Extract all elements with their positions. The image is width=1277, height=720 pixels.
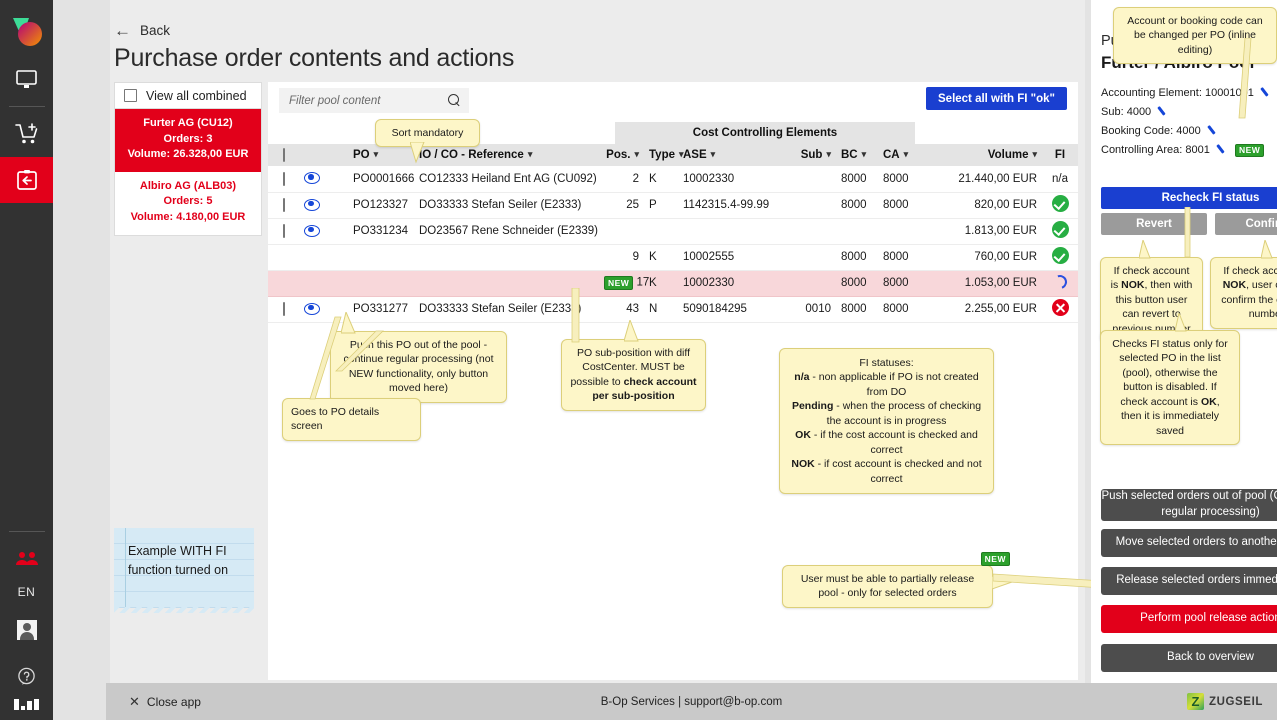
pool-accounting-fields: Accounting Element: 10001001 Sub: 4000 B…: [1101, 84, 1273, 161]
col-po[interactable]: PO▾: [348, 144, 414, 166]
cell-bc: 8000: [836, 244, 878, 270]
col-pos[interactable]: Pos.▾: [599, 144, 644, 166]
field-label: Sub:: [1101, 106, 1124, 118]
callout-sort-mandatory: Sort mandatory: [375, 119, 480, 147]
field-label: Accounting Element:: [1101, 87, 1202, 99]
cell-bc: 8000: [836, 270, 878, 296]
cell-volume: 2.255,00 EUR: [922, 296, 1042, 322]
callout-text-a: If check account is: [1223, 265, 1277, 277]
zugseil-mark-icon: Z: [1187, 693, 1204, 710]
cell-po: PO123327: [348, 192, 414, 218]
col-po-label: PO: [353, 149, 370, 161]
cell-eye[interactable]: [299, 270, 321, 296]
col-volume[interactable]: Volume▾: [922, 144, 1042, 166]
table-row[interactable]: PO331234DO23567 Rene Schneider (E2339)1.…: [268, 218, 1078, 244]
cell-fi: [1042, 218, 1078, 244]
language-label[interactable]: EN: [18, 582, 36, 607]
col-bc[interactable]: BC▾: [836, 144, 878, 166]
col-type-label: Type: [649, 149, 675, 161]
cell-volume: 820,00 EUR: [922, 192, 1042, 218]
field-booking-code: Booking Code: 4000: [1101, 122, 1273, 141]
callout-confirm-note: If check account is NOK, user can still …: [1210, 257, 1277, 329]
pool-orders: Orders: 3: [119, 132, 257, 148]
recheck-fi-status-button[interactable]: Recheck FI status: [1101, 187, 1277, 209]
new-badge: NEW: [604, 276, 633, 290]
col-ca[interactable]: CA▾: [878, 144, 922, 166]
cell-sub: [784, 270, 836, 296]
cell-type: [644, 218, 678, 244]
push-out-of-pool-icon[interactable]: [327, 171, 342, 184]
fi-status-key: n/a: [794, 371, 809, 383]
cell-type: K: [644, 270, 678, 296]
cell-type: N: [644, 296, 678, 322]
callout-text: Account or booking code can be changed p…: [1127, 15, 1262, 56]
action-label: Move selected orders to another pool: [1116, 536, 1277, 548]
cell-pos: 2: [599, 166, 644, 192]
zugseil-logo-text: ZUGSEIL: [1209, 696, 1263, 708]
col-reference-label: IO / CO - Reference: [419, 149, 524, 161]
fi-status-desc: - non applicable if PO is not created fr…: [809, 371, 978, 397]
push-orders-out-button[interactable]: Push selected orders out of pool (Contin…: [1101, 489, 1277, 521]
cell-push[interactable]: [321, 218, 348, 244]
cell-fi: [1042, 244, 1078, 270]
pool-volume: Volume: 4.180,00 EUR: [119, 210, 257, 226]
callout-tail: [1139, 240, 1157, 259]
row-checkbox[interactable]: [283, 172, 285, 186]
cell-po: [348, 244, 414, 270]
cell-push[interactable]: [321, 270, 348, 296]
cell-ca: 8000: [878, 166, 922, 192]
cell-ca: 8000: [878, 192, 922, 218]
cell-ca: 8000: [878, 296, 922, 322]
callout-push-po: Push this PO out of the pool - continue …: [330, 331, 507, 403]
fi-status-ok-icon: [1052, 221, 1069, 238]
cell-ase: 10002555: [678, 244, 784, 270]
cell-sub: [784, 192, 836, 218]
callout-partial-release: User must be able to partially release p…: [782, 565, 993, 608]
cell-volume: 1.053,00 EUR: [922, 270, 1042, 296]
fi-statuses-title: FI statuses:: [789, 356, 984, 370]
callout-tail: [1261, 240, 1277, 259]
callout-text: Sort mandatory: [392, 127, 464, 139]
cell-po: [348, 270, 414, 296]
cell-sub: [784, 244, 836, 270]
people-icon[interactable]: [0, 536, 53, 582]
fi-status-ok-icon: [1052, 247, 1069, 264]
select-all-header[interactable]: [268, 144, 299, 166]
field-label: Controlling Area:: [1101, 144, 1182, 156]
pool-name: Albiro AG (ALB03): [119, 179, 257, 195]
monitor-icon[interactable]: [0, 56, 53, 102]
callout-tail: [1175, 313, 1193, 332]
cell-fi: [1042, 192, 1078, 218]
cell-sub: [784, 218, 836, 244]
cell-type: K: [644, 244, 678, 270]
back-label: Back: [140, 23, 170, 38]
cell-volume: 1.813,00 EUR: [922, 218, 1042, 244]
fi-status-ok-icon: [1052, 195, 1069, 212]
brand-logo-icon: [5, 12, 49, 56]
table-toolbar: Select all with FI "ok": [268, 82, 1078, 119]
app-stage: ← Back Purchase order contents and actio…: [53, 0, 1277, 720]
cell-eye[interactable]: [299, 244, 321, 270]
col-volume-label: Volume: [988, 149, 1029, 161]
pool-name: Furter AG (CU12): [119, 116, 257, 132]
col-ca-label: CA: [883, 149, 900, 161]
callout-sub-position: PO sub-position with diff CostCenter. MU…: [561, 339, 706, 411]
cell-select[interactable]: [268, 192, 299, 218]
cell-select[interactable]: [268, 296, 299, 322]
cell-pos: [599, 218, 644, 244]
field-sub: Sub: 4000: [1101, 103, 1273, 122]
callout-po-details: Goes to PO details screen: [282, 398, 421, 441]
edit-pencil-icon[interactable]: [1159, 105, 1170, 116]
callout-text: Push this PO out of the pool - continue …: [343, 339, 493, 394]
cell-eye[interactable]: [299, 218, 321, 244]
pool-card-furter[interactable]: Furter AG (CU12) Orders: 3 Volume: 26.32…: [115, 109, 261, 172]
back-button[interactable]: ← Back: [114, 22, 170, 39]
cost-controlling-elements-header: Cost Controlling Elements: [615, 122, 915, 144]
cell-ca: [878, 218, 922, 244]
cell-reference: DO23567 Rene Schneider (E2339): [414, 218, 599, 244]
bottom-bar: ✕ Close app B-Op Services | support@b-op…: [106, 683, 1277, 720]
col-sub-label: Sub: [801, 149, 823, 161]
field-value: 4000: [1127, 106, 1151, 118]
pool-card-albiro[interactable]: Albiro AG (ALB03) Orders: 5 Volume: 4.18…: [115, 172, 261, 235]
cell-select[interactable]: [268, 166, 299, 192]
cell-fi: [1042, 296, 1078, 322]
field-label: Booking Code:: [1101, 125, 1173, 137]
col-type[interactable]: Type▾: [644, 144, 678, 166]
cell-type: K: [644, 166, 678, 192]
purchase-order-table: PO▾ IO / CO - Reference▾ Pos.▾ Type▾ ASE…: [268, 144, 1078, 323]
zugseil-logo: Z ZUGSEIL: [1187, 693, 1263, 710]
col-ase[interactable]: ASE▾: [678, 144, 784, 166]
avatar[interactable]: [0, 607, 53, 653]
action-label: Push selected orders out of pool (Contin…: [1102, 490, 1277, 518]
cell-select[interactable]: [268, 270, 299, 296]
edit-pencil-icon[interactable]: [1209, 124, 1220, 135]
filter-search-box[interactable]: [279, 88, 469, 113]
fi-status-key: OK: [795, 429, 811, 441]
callout-text-b: OK: [1201, 396, 1217, 408]
callout-text: User must be able to partially release p…: [801, 573, 974, 599]
move-orders-button[interactable]: Move selected orders to another pool: [1101, 529, 1277, 557]
callout-tail: [341, 312, 363, 334]
search-icon[interactable]: [448, 94, 461, 107]
select-all-checkbox[interactable]: [283, 148, 285, 162]
view-all-combined-toggle[interactable]: View all combined: [114, 82, 262, 109]
action-label: Back to overview: [1167, 651, 1254, 663]
support-text: B-Op Services | support@b-op.com: [106, 696, 1277, 708]
fi-status-key: Pending: [792, 400, 833, 412]
pool-volume: Volume: 26.328,00 EUR: [119, 147, 257, 163]
cell-sub: [784, 166, 836, 192]
view-all-checkbox[interactable]: [124, 89, 137, 102]
note-torn-edge: [114, 607, 254, 613]
field-controlling-area: Controlling Area: 8001 NEW: [1101, 141, 1273, 160]
cell-ca: 8000: [878, 270, 922, 296]
pool-orders: Orders: 5: [119, 194, 257, 210]
cell-po: PO331234: [348, 218, 414, 244]
confirm-button[interactable]: Confirm: [1215, 213, 1277, 235]
callout-text-b: NOK: [1121, 279, 1144, 291]
cell-ase: 10002330: [678, 270, 784, 296]
callout-tail: [992, 576, 1014, 594]
table-row[interactable]: NEW 17K10002330800080001.053,00 EUR: [268, 270, 1078, 296]
cell-push[interactable]: [321, 192, 348, 218]
cell-select[interactable]: [268, 218, 299, 244]
push-out-of-pool-icon[interactable]: [327, 223, 342, 236]
field-accounting-element: Accounting Element: 10001001: [1101, 84, 1273, 103]
cell-pos: 9: [599, 244, 644, 270]
callout-text: Goes to PO details screen: [291, 406, 379, 432]
callout-tail: [624, 320, 646, 342]
view-all-label: View all combined: [146, 89, 247, 103]
view-details-icon[interactable]: [304, 223, 318, 237]
revert-button[interactable]: Revert: [1101, 213, 1207, 235]
cell-fi: [1042, 270, 1078, 296]
row-checkbox[interactable]: [283, 224, 285, 238]
table-row[interactable]: PO331277DO33333 Stefan Seiler (E2333)43N…: [268, 296, 1078, 322]
cell-pos: 43: [599, 296, 644, 322]
field-value: 8001: [1185, 144, 1209, 156]
push-out-of-pool-icon[interactable]: [327, 301, 342, 314]
callout-inline-edit: Account or booking code can be changed p…: [1113, 7, 1277, 64]
col-ase-label: ASE: [683, 149, 707, 161]
col-pos-label: Pos.: [606, 149, 630, 161]
cell-ase: 10002330: [678, 166, 784, 192]
cell-eye[interactable]: [299, 296, 321, 322]
release-orders-button[interactable]: Release selected orders immediately: [1101, 567, 1277, 595]
col-sub[interactable]: Sub▾: [784, 144, 836, 166]
cell-reference: DO33333 Stefan Seiler (E2333): [414, 296, 599, 322]
cell-eye[interactable]: [299, 192, 321, 218]
bop-logo: [14, 699, 39, 710]
select-all-fi-ok-button[interactable]: Select all with FI "ok": [926, 87, 1067, 110]
col-fi: FI: [1042, 144, 1078, 166]
left-nav-rail: EN: [0, 0, 53, 720]
col-reference[interactable]: IO / CO - Reference▾: [414, 144, 599, 166]
cell-bc: 8000: [836, 192, 878, 218]
edit-pencil-icon[interactable]: [1262, 86, 1273, 97]
col-push: [321, 144, 348, 166]
cell-pos: NEW 17: [599, 270, 644, 296]
cell-pos: 25: [599, 192, 644, 218]
perform-pool-release-button[interactable]: Perform pool release action: [1101, 605, 1277, 633]
cell-reference: [414, 244, 599, 270]
cell-reference: [414, 270, 599, 296]
row-checkbox[interactable]: [283, 302, 285, 316]
callout-tail: [410, 142, 432, 164]
help-icon[interactable]: [0, 653, 53, 699]
fi-status-desc: - if the cost account is checked and cor…: [811, 429, 978, 455]
callout-recheck-note: Checks FI status only for selected PO in…: [1100, 330, 1240, 445]
cell-volume: 760,00 EUR: [922, 244, 1042, 270]
back-to-overview-button[interactable]: Back to overview: [1101, 644, 1277, 672]
fi-status-key: NOK: [791, 458, 814, 470]
cell-ase: 5090184295: [678, 296, 784, 322]
action-label: Release selected orders immediately: [1116, 574, 1277, 586]
rail-divider: [9, 106, 45, 107]
pool-sidebar: View all combined Furter AG (CU12) Order…: [114, 82, 262, 236]
field-value: 10001001: [1205, 87, 1254, 99]
cart-add-icon[interactable]: [0, 111, 53, 157]
cell-bc: 8000: [836, 296, 878, 322]
col-eye: [299, 144, 321, 166]
note-line-1: Example WITH FI: [128, 542, 254, 561]
cell-po: PO0001666: [348, 166, 414, 192]
fi-status-pending-icon: [1051, 272, 1070, 291]
table-row[interactable]: PO123327DO33333 Stefan Seiler (E2333)25P…: [268, 192, 1078, 218]
cell-sub: 0010: [784, 296, 836, 322]
new-badge: NEW: [981, 552, 1010, 566]
back-arrow-icon: ←: [114, 22, 131, 39]
fi-status-desc: - if cost account is checked and not cor…: [815, 458, 982, 484]
col-fi-label: FI: [1055, 149, 1065, 161]
col-bc-label: BC: [841, 149, 858, 161]
cell-eye[interactable]: [299, 166, 321, 192]
action-label: Perform pool release action: [1140, 612, 1277, 624]
edit-pencil-icon[interactable]: [1218, 143, 1229, 154]
example-note: Example WITH FI function turned on: [114, 528, 254, 608]
cell-bc: [836, 218, 878, 244]
view-details-icon[interactable]: [304, 197, 318, 211]
cell-reference: DO33333 Stefan Seiler (E2333): [414, 192, 599, 218]
cell-push[interactable]: [321, 166, 348, 192]
view-details-icon[interactable]: [304, 170, 318, 184]
page-title: Purchase order contents and actions: [114, 44, 514, 73]
cell-reference: CO12333 Heiland Ent AG (CU092): [414, 166, 599, 192]
note-line-2: function turned on: [128, 561, 254, 580]
cell-ca: 8000: [878, 244, 922, 270]
cell-volume: 21.440,00 EUR: [922, 166, 1042, 192]
cell-type: P: [644, 192, 678, 218]
callout-text-b: NOK: [1223, 279, 1246, 291]
rail-divider-bottom: [9, 531, 45, 532]
callout-fi-statuses: FI statuses: n/a - non applicable if PO …: [779, 348, 994, 494]
field-value: 4000: [1176, 125, 1200, 137]
clipboard-arrow-icon[interactable]: [0, 157, 53, 203]
push-out-of-pool-icon[interactable]: [327, 197, 342, 210]
row-checkbox[interactable]: [283, 198, 285, 212]
cell-ase: 1142315.4-99.99: [678, 192, 784, 218]
table-row[interactable]: PO0001666CO12333 Heiland Ent AG (CU092)2…: [268, 166, 1078, 192]
view-details-icon[interactable]: [304, 301, 318, 315]
fi-status-desc: - when the process of checking the accou…: [827, 400, 981, 426]
filter-input[interactable]: [287, 94, 448, 108]
new-badge: NEW: [1235, 144, 1264, 158]
cell-select[interactable]: [268, 244, 299, 270]
cell-ase: [678, 218, 784, 244]
table-row[interactable]: 9K1000255580008000760,00 EUR: [268, 244, 1078, 270]
cell-fi: n/a: [1042, 166, 1078, 192]
fi-status-nok-icon: [1052, 299, 1069, 316]
cell-push[interactable]: [321, 244, 348, 270]
cell-bc: 8000: [836, 166, 878, 192]
